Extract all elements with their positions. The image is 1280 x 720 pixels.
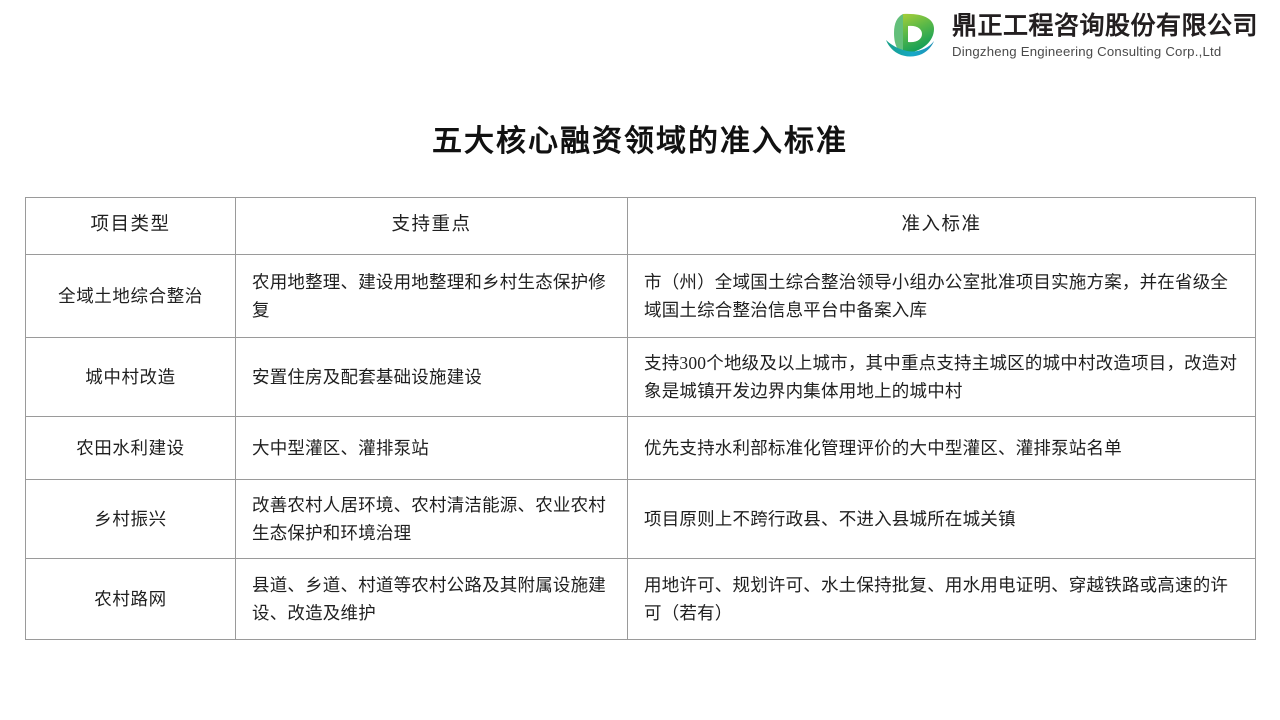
brand-name-en: Dingzheng Engineering Consulting Corp.,L… [952,45,1221,58]
table-row: 农田水利建设 大中型灌区、灌排泵站 优先支持水利部标准化管理评价的大中型灌区、灌… [26,417,1256,480]
table-row: 乡村振兴 改善农村人居环境、农村清洁能源、农业农村生态保护和环境治理 项目原则上… [26,480,1256,559]
brand-name-cn: 鼎正工程咨询股份有限公司 [952,14,1258,39]
table-header-row: 项目类型 支持重点 准入标准 [26,198,1256,255]
table-row: 城中村改造 安置住房及配套基础设施建设 支持300个地级及以上城市，其中重点支持… [26,338,1256,417]
table-row: 农村路网 县道、乡道、村道等农村公路及其附属设施建设、改造及维护 用地许可、规划… [26,559,1256,640]
page-title: 五大核心融资领域的准入标准 [0,116,1280,160]
cell-support-focus: 大中型灌区、灌排泵站 [236,417,628,480]
cell-project-type: 乡村振兴 [26,480,236,559]
entry-criteria-table: 项目类型 支持重点 准入标准 全域土地综合整治 农用地整理、建设用地整理和乡村生… [25,197,1256,640]
cell-entry-criteria: 用地许可、规划许可、水土保持批复、用水用电证明、穿越铁路或高速的许可（若有） [628,559,1256,640]
entry-criteria-table-container: 项目类型 支持重点 准入标准 全域土地综合整治 农用地整理、建设用地整理和乡村生… [25,197,1255,640]
column-header-entry-criteria: 准入标准 [628,198,1256,255]
column-header-support-focus: 支持重点 [236,198,628,255]
cell-entry-criteria: 优先支持水利部标准化管理评价的大中型灌区、灌排泵站名单 [628,417,1256,480]
cell-support-focus: 改善农村人居环境、农村清洁能源、农业农村生态保护和环境治理 [236,480,628,559]
cell-support-focus: 安置住房及配套基础设施建设 [236,338,628,417]
cell-project-type: 全域土地综合整治 [26,255,236,338]
table-row: 全域土地综合整治 农用地整理、建设用地整理和乡村生态保护修复 市（州）全域国土综… [26,255,1256,338]
dingzheng-d-leaf-logo-icon [884,10,940,62]
cell-support-focus: 农用地整理、建设用地整理和乡村生态保护修复 [236,255,628,338]
cell-project-type: 农田水利建设 [26,417,236,480]
cell-entry-criteria: 项目原则上不跨行政县、不进入县城所在城关镇 [628,480,1256,559]
cell-entry-criteria: 支持300个地级及以上城市，其中重点支持主城区的城中村改造项目，改造对象是城镇开… [628,338,1256,417]
brand-name-block: 鼎正工程咨询股份有限公司 Dingzheng Engineering Consu… [952,14,1258,58]
cell-entry-criteria: 市（州）全域国土综合整治领导小组办公室批准项目实施方案，并在省级全域国土综合整治… [628,255,1256,338]
cell-support-focus: 县道、乡道、村道等农村公路及其附属设施建设、改造及维护 [236,559,628,640]
cell-project-type: 农村路网 [26,559,236,640]
cell-project-type: 城中村改造 [26,338,236,417]
brand-header: 鼎正工程咨询股份有限公司 Dingzheng Engineering Consu… [860,0,1280,72]
column-header-project-type: 项目类型 [26,198,236,255]
